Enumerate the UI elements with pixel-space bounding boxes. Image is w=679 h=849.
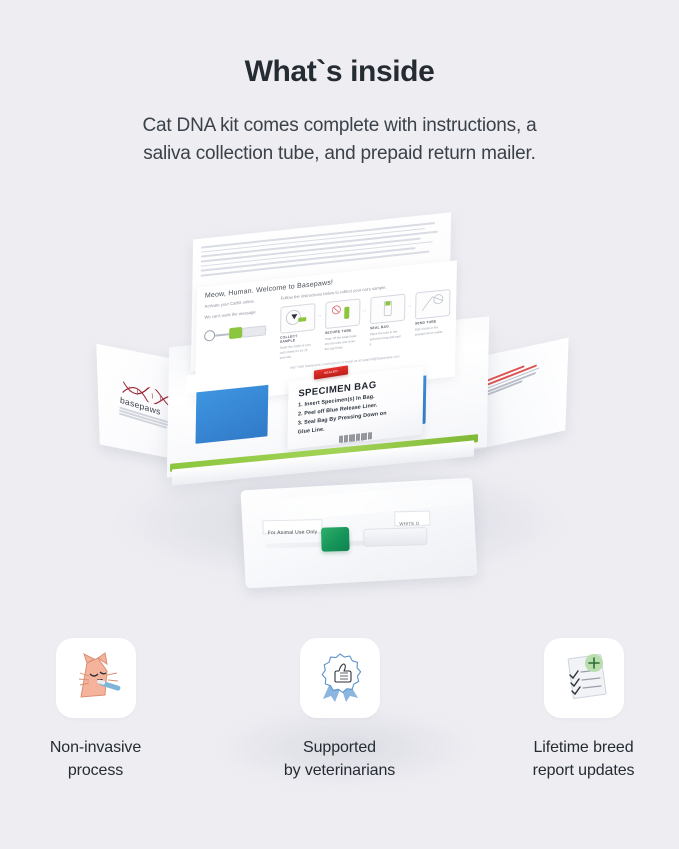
swab-green-cap <box>321 527 350 552</box>
step-text: Swab the inside of your cat's cheek for … <box>280 342 313 361</box>
send-tube-icon <box>416 290 449 319</box>
step-arrow-icon: → <box>361 307 367 314</box>
feature-label-line-1: Lifetime breed <box>519 736 649 759</box>
step-card: SEAL BAG Place the tube in the specimen … <box>370 294 404 348</box>
tube-illustration <box>204 324 271 342</box>
checklist-document-icon <box>557 651 611 705</box>
feature-label-line-2: by veterinarians <box>275 759 405 782</box>
pouch-label-left: For Animal Use Only <box>262 519 322 534</box>
instruction-steps: Follow the instructions below to collect… <box>279 278 448 371</box>
flap-right-text <box>485 359 543 397</box>
feature-label: Non-invasive process <box>31 736 161 782</box>
step-card: SECURE TUBE Snap off the swab head into … <box>325 298 359 352</box>
product-photo: basepaws <box>0 212 679 617</box>
page-subtitle: Cat DNA kit comes complete with instruct… <box>125 112 555 169</box>
step-card: SEND TUBE Mail it back in the prepaid re… <box>415 289 449 338</box>
step-arrow-icon: → <box>316 312 322 319</box>
seal-bag-icon <box>371 294 404 323</box>
cat-swab-icon <box>67 651 125 705</box>
collect-sample-icon <box>281 304 314 333</box>
pouch-label-left-text: For Animal Use Only <box>264 529 318 536</box>
feature-label: Lifetime breed report updates <box>519 736 649 782</box>
step-arrow-icon: → <box>406 303 412 310</box>
feature-label-line-2: report updates <box>519 759 649 782</box>
pouch-label-right-text: WHITE D <box>395 521 419 527</box>
step-text: Mail it back in the prepaid return maile… <box>415 324 448 338</box>
pouch-label-right: WHITE D <box>394 511 430 527</box>
header: What`s inside Cat DNA kit comes complete… <box>0 0 679 169</box>
step-card: COLLECT SAMPLE Swab the inside of your c… <box>280 303 314 361</box>
thumbs-up-badge-icon <box>313 651 367 705</box>
secure-tube-icon <box>326 299 359 328</box>
step-text: Place the tube in the specimen bag and s… <box>370 329 403 348</box>
intro-line-2: We can't work the message <box>204 307 271 321</box>
feature-item-vet-supported: Supported by veterinarians <box>275 638 405 782</box>
feature-item-non-invasive: Non-invasive process <box>31 638 161 782</box>
feature-label-line-1: Non-invasive <box>31 736 161 759</box>
feature-label-line-1: Supported <box>275 736 405 759</box>
feature-list: Non-invasive process Supported by veteri… <box>0 638 679 782</box>
feature-label-line-2: process <box>31 759 161 782</box>
swab-tube-body <box>363 527 428 547</box>
feature-item-lifetime-updates: Lifetime breed report updates <box>519 638 649 782</box>
step-text: Snap off the swab head into the tube and… <box>325 333 358 352</box>
swab-pouch: For Animal Use Only WHITE D <box>240 478 477 589</box>
page-root: What`s inside Cat DNA kit comes complete… <box>0 0 679 849</box>
feature-icon-tile <box>300 638 380 718</box>
page-title: What`s inside <box>0 55 679 90</box>
feature-label: Supported by veterinarians <box>275 736 405 782</box>
feature-icon-tile <box>544 638 624 718</box>
feature-icon-tile <box>56 638 136 718</box>
